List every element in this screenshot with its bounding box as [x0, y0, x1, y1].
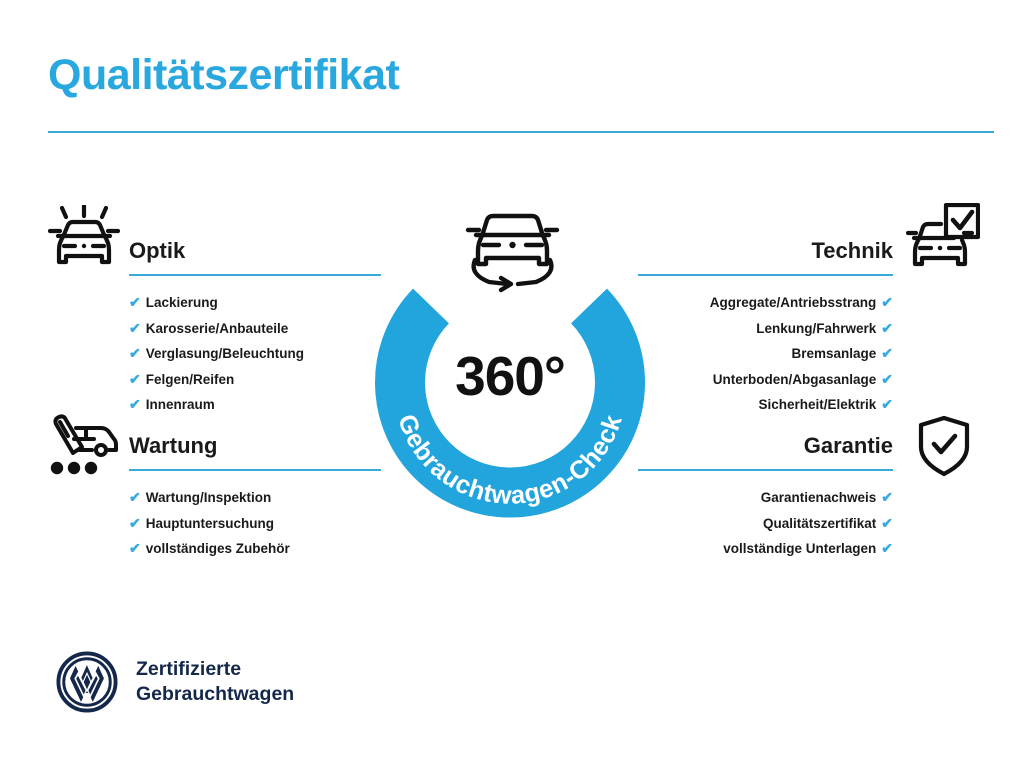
list-item: vollständige Unterlagen✔ — [638, 536, 893, 562]
list-item: Bremsanlage✔ — [638, 341, 893, 367]
check-icon: ✔ — [881, 396, 893, 412]
section-technik: Technik Aggregate/Antriebsstrang✔ Lenkun… — [638, 236, 893, 418]
list-item-label: Wartung/Inspektion — [146, 490, 272, 505]
list-item-label: Sicherheit/Elektrik — [758, 397, 876, 412]
section-garantie-list: Garantienachweis✔ Qualitätszertifikat✔ v… — [638, 485, 893, 562]
header-divider — [48, 131, 994, 133]
list-item-label: Karosserie/Anbauteile — [146, 321, 289, 336]
list-item-label: Lenkung/Fahrwerk — [756, 321, 876, 336]
list-item: Aggregate/Antriebsstrang✔ — [638, 290, 893, 316]
list-item: Lenkung/Fahrwerk✔ — [638, 316, 893, 342]
badge-number: 360° — [374, 344, 646, 408]
car-front-shine-icon — [46, 205, 122, 276]
list-item-label: vollständige Unterlagen — [723, 541, 876, 556]
list-item-label: Verglasung/Beleuchtung — [146, 346, 304, 361]
check-icon: ✔ — [881, 294, 893, 310]
check-icon: ✔ — [881, 320, 893, 336]
list-item: Garantienachweis✔ — [638, 485, 893, 511]
vw-certified-text: Zertifizierte Gebrauchtwagen — [136, 657, 294, 707]
list-item-label: Qualitätszertifikat — [763, 516, 876, 531]
section-optik: Optik ✔Lackierung ✔Karosserie/Anbauteile… — [129, 236, 381, 418]
certificate-page: Qualitätszertifikat Optik ✔Lackierung ✔K… — [0, 0, 1024, 768]
check-icon: ✔ — [129, 396, 141, 412]
section-optik-header: Optik — [129, 236, 381, 276]
shield-check-icon — [914, 414, 974, 483]
check-icon: ✔ — [881, 489, 893, 505]
section-wartung: Wartung ✔Wartung/Inspektion ✔Hauptunters… — [129, 431, 381, 562]
vw-logo — [56, 651, 118, 713]
check-icon: ✔ — [129, 515, 141, 531]
section-technik-title: Technik — [638, 236, 893, 266]
section-optik-list: ✔Lackierung ✔Karosserie/Anbauteile ✔Verg… — [129, 290, 381, 418]
section-wartung-list: ✔Wartung/Inspektion ✔Hauptuntersuchung ✔… — [129, 485, 381, 562]
check-icon: ✔ — [129, 489, 141, 505]
section-garantie: Garantie Garantienachweis✔ Qualitätszert… — [638, 431, 893, 562]
page-title: Qualitätszertifikat — [48, 52, 399, 99]
wrench-car-service-icon — [46, 414, 122, 481]
list-item: Qualitätszertifikat✔ — [638, 511, 893, 537]
section-technik-header: Technik — [638, 236, 893, 276]
list-item: ✔Verglasung/Beleuchtung — [129, 341, 381, 367]
check-icon: ✔ — [129, 320, 141, 336]
list-item-label: vollständiges Zubehör — [146, 541, 290, 556]
section-garantie-header: Garantie — [638, 431, 893, 471]
section-garantie-divider — [638, 469, 893, 471]
section-technik-divider — [638, 274, 893, 276]
vw-certified-line2: Gebrauchtwagen — [136, 682, 294, 707]
check-icon: ✔ — [129, 540, 141, 556]
list-item-label: Lackierung — [146, 295, 218, 310]
list-item: ✔Felgen/Reifen — [129, 367, 381, 393]
list-item-label: Aggregate/Antriebsstrang — [710, 295, 877, 310]
list-item: ✔Karosserie/Anbauteile — [129, 316, 381, 342]
check-icon: ✔ — [129, 294, 141, 310]
list-item: ✔Lackierung — [129, 290, 381, 316]
list-item-label: Bremsanlage — [791, 346, 876, 361]
section-wartung-title: Wartung — [129, 431, 381, 461]
check-icon: ✔ — [881, 540, 893, 556]
list-item-label: Felgen/Reifen — [146, 372, 235, 387]
check-icon: ✔ — [129, 345, 141, 361]
car-front-checkbox-icon — [906, 203, 980, 276]
section-garantie-title: Garantie — [638, 431, 893, 461]
section-wartung-header: Wartung — [129, 431, 381, 471]
check-icon: ✔ — [881, 371, 893, 387]
list-item: Unterboden/Abgasanlage✔ — [638, 367, 893, 393]
check-icon: ✔ — [881, 345, 893, 361]
section-optik-title: Optik — [129, 236, 381, 266]
check-icon: ✔ — [129, 371, 141, 387]
vw-certified-line1: Zertifizierte — [136, 657, 294, 682]
section-technik-list: Aggregate/Antriebsstrang✔ Lenkung/Fahrwe… — [638, 290, 893, 418]
check-icon: ✔ — [881, 515, 893, 531]
list-item: ✔Wartung/Inspektion — [129, 485, 381, 511]
list-item-label: Hauptuntersuchung — [146, 516, 274, 531]
list-item: ✔vollständiges Zubehör — [129, 536, 381, 562]
section-wartung-divider — [129, 469, 381, 471]
list-item: ✔Hauptuntersuchung — [129, 511, 381, 537]
vw-certified-lockup: Zertifizierte Gebrauchtwagen — [56, 651, 294, 713]
section-optik-divider — [129, 274, 381, 276]
list-item-label: Unterboden/Abgasanlage — [713, 372, 877, 387]
car-rotation-360-icon — [455, 198, 570, 296]
list-item-label: Garantienachweis — [761, 490, 877, 505]
list-item: ✔Innenraum — [129, 392, 381, 418]
list-item: Sicherheit/Elektrik✔ — [638, 392, 893, 418]
list-item-label: Innenraum — [146, 397, 215, 412]
